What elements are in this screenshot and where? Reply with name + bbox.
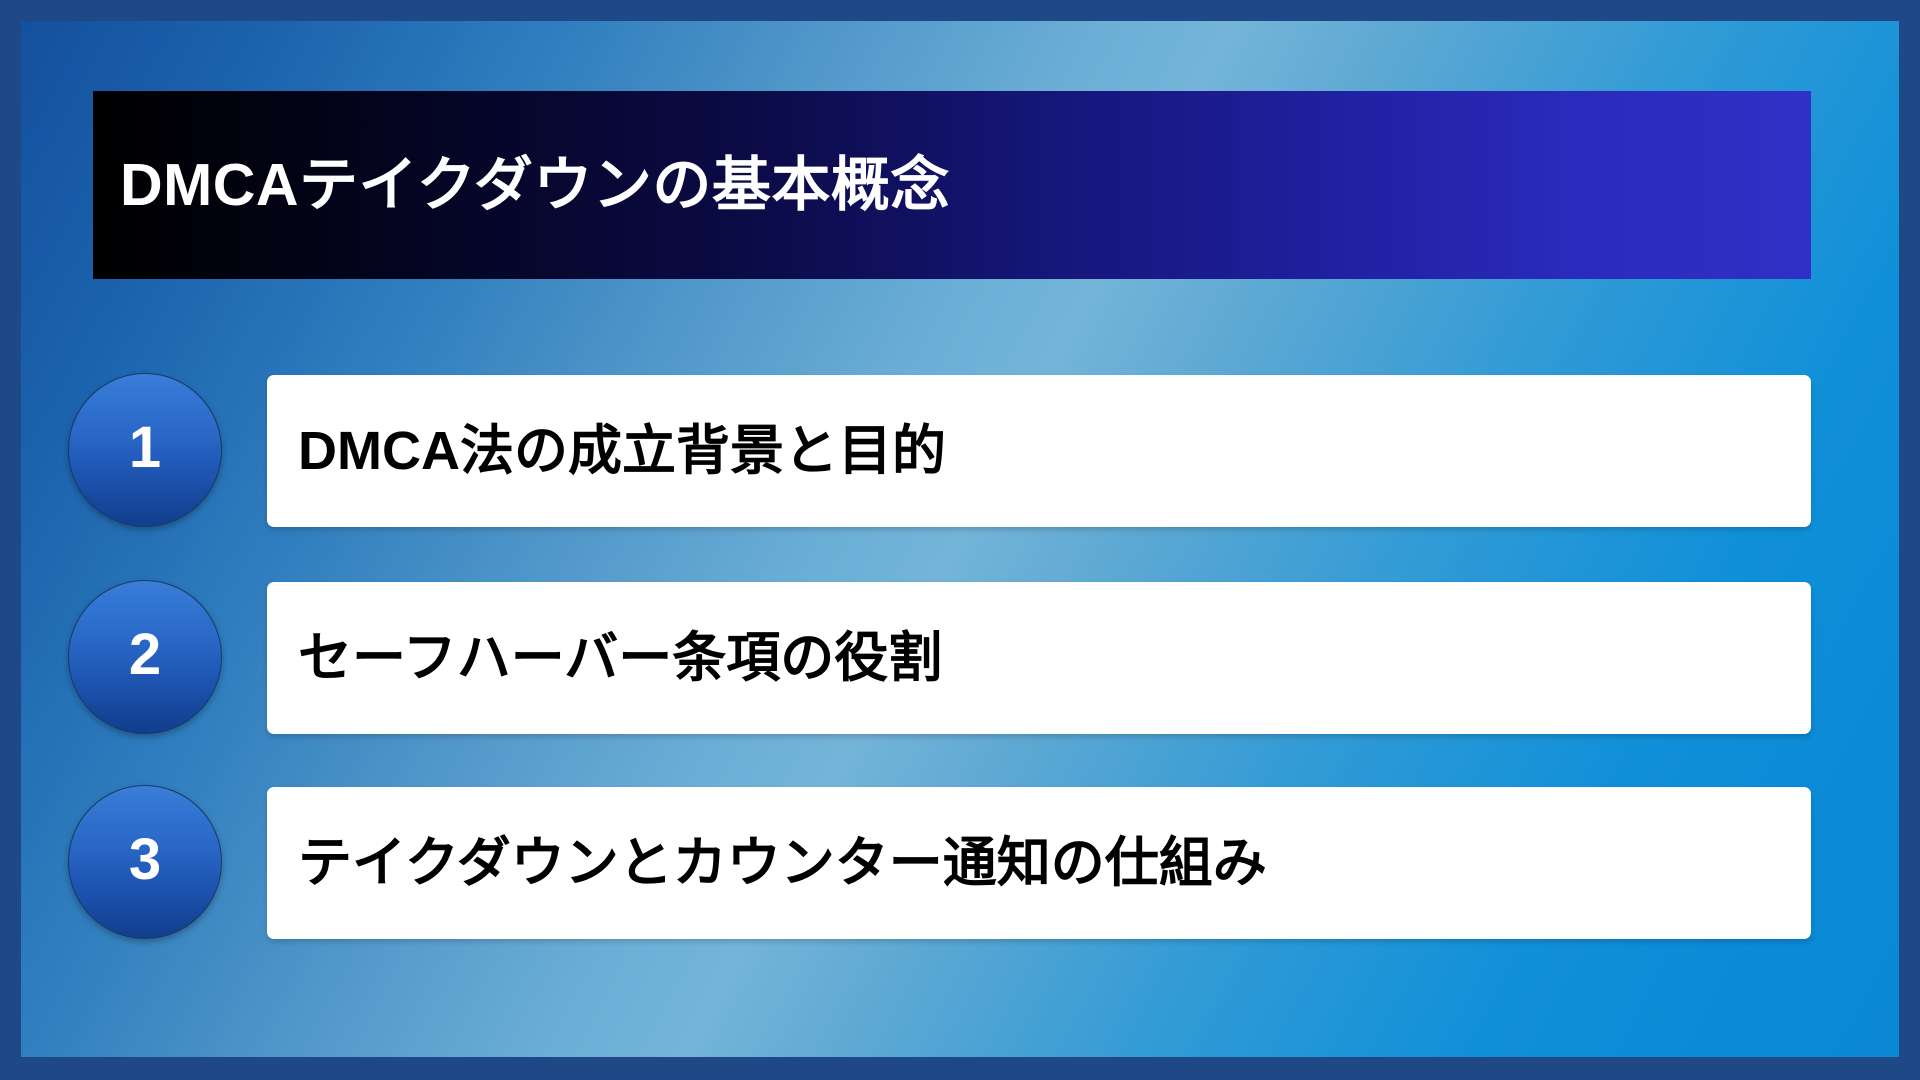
slide-canvas: DMCAテイクダウンの基本概念 1 DMCA法の成立背景と目的 2 セーフハーバ… [21,21,1899,1057]
number-badge-3: 3 [68,785,222,939]
number-badge-2: 2 [68,580,222,734]
list-item-card-3[interactable]: テイクダウンとカウンター通知の仕組み [267,787,1811,939]
list-item-card-1[interactable]: DMCA法の成立背景と目的 [267,375,1811,527]
list-item-label: DMCA法の成立背景と目的 [298,420,946,482]
badge-number-label: 3 [129,831,161,889]
agenda-list: 1 DMCA法の成立背景と目的 2 セーフハーバー条項の役割 3 [21,21,1899,1057]
list-item-card-2[interactable]: セーフハーバー条項の役割 [267,582,1811,734]
list-item[interactable]: 1 DMCA法の成立背景と目的 [21,375,1899,527]
badge-number-label: 1 [129,419,161,477]
list-item-label: セーフハーバー条項の役割 [298,627,942,689]
list-item-label: テイクダウンとカウンター通知の仕組み [298,832,1267,894]
list-item[interactable]: 2 セーフハーバー条項の役割 [21,582,1899,734]
slide-frame: DMCAテイクダウンの基本概念 1 DMCA法の成立背景と目的 2 セーフハーバ… [0,0,1920,1080]
list-item[interactable]: 3 テイクダウンとカウンター通知の仕組み [21,787,1899,939]
number-badge-1: 1 [68,373,222,527]
badge-number-label: 2 [129,626,161,684]
